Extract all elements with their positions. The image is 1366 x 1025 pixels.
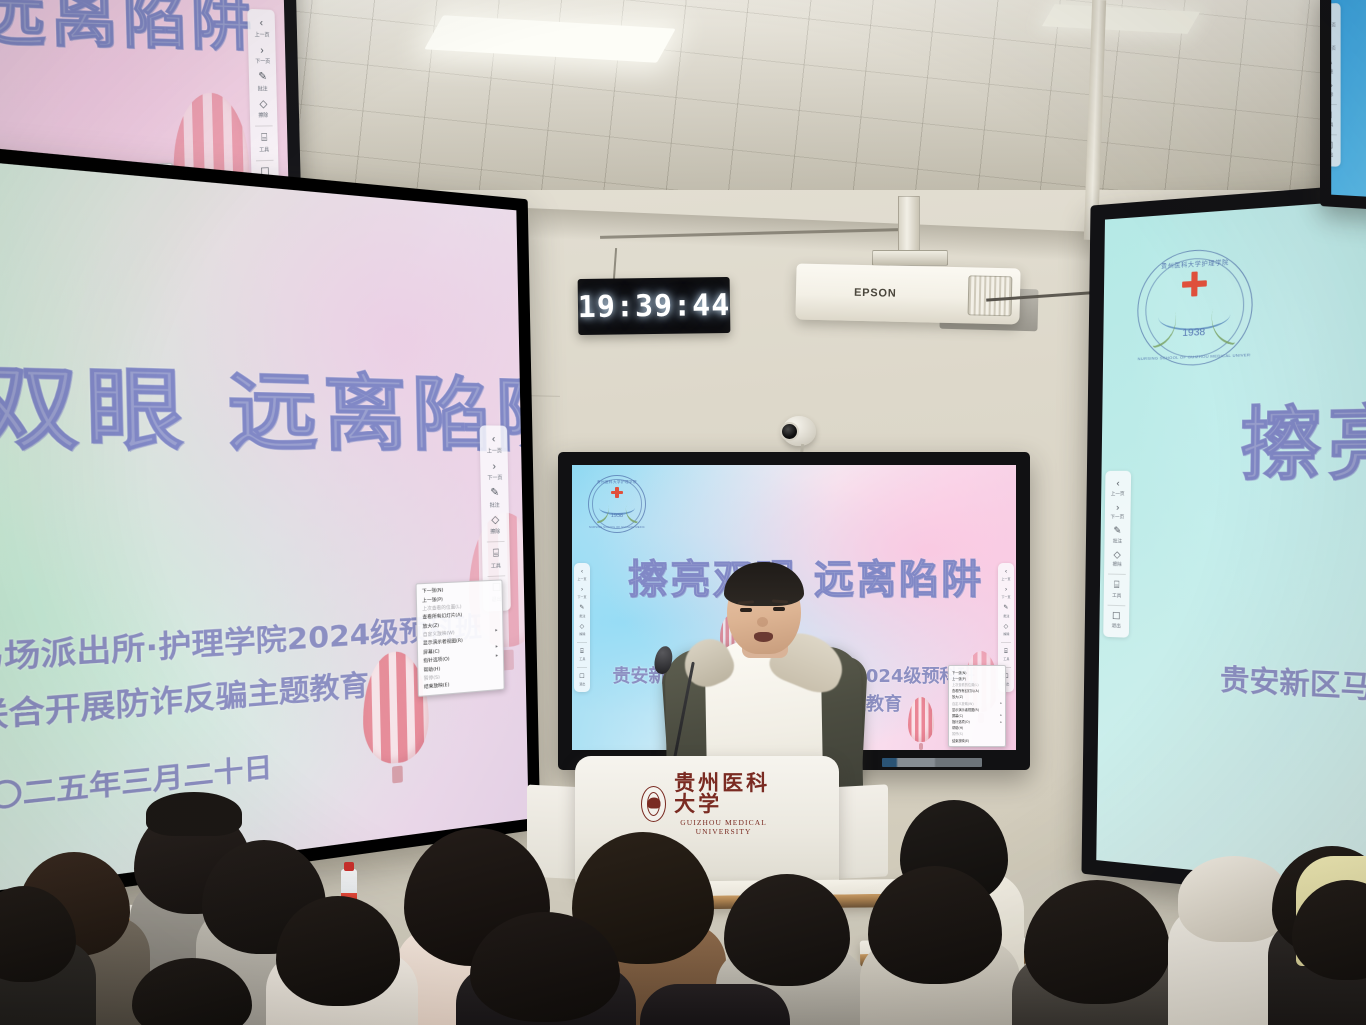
toolbar-button-退出[interactable]: ☐退出 — [1103, 608, 1129, 633]
toolbar-button-label: 退出 — [579, 681, 585, 686]
chevron-right-icon: ▸ — [1000, 701, 1002, 705]
toolbar-button-label: 下一页 — [255, 57, 270, 66]
toolbar-button-label: 擦除 — [490, 526, 500, 534]
eraser-icon: ◇ — [491, 514, 499, 525]
context-menu-item-label: 放大(Z) — [423, 622, 440, 629]
toolbar-button-批注[interactable]: ✎批注 — [481, 484, 509, 511]
toolbar-button-label: 擦除 — [1112, 561, 1121, 568]
exit-screen-icon: ☐ — [579, 674, 585, 680]
context-menu-item-label: 下一张(N) — [422, 587, 444, 594]
toolbar-button-label: 工具 — [1112, 592, 1121, 599]
logo-arc-top-text: 贵州医科大学护理学院 — [589, 480, 645, 485]
toolbar-button-label: 上一页 — [486, 446, 501, 454]
toolbar-button-label: 下一页 — [487, 473, 502, 481]
chevron-right-icon: ▸ — [1000, 720, 1002, 724]
audience-hair-bun — [146, 792, 242, 836]
toolbar-divider — [1331, 104, 1337, 105]
toolbar-button-批注[interactable]: ✎批注 — [1331, 55, 1340, 79]
toolbar-button-上一页[interactable]: ‹上一页 — [1105, 476, 1131, 500]
ppt-presentation-toolbar[interactable]: ‹上一页›下一页✎批注◇擦除⌸工具☐退出 — [574, 563, 590, 692]
toolbar-divider — [1331, 134, 1337, 135]
toolbar-button-擦除[interactable]: ◇擦除 — [1104, 547, 1130, 571]
toolbar-button-下一页[interactable]: ›下一页 — [1105, 500, 1131, 524]
nursing-school-logo: 贵州医科大学护理学院 1938 NURSING SCHOOL OF GUIZHO… — [588, 475, 646, 533]
toolbox-icon: ⌸ — [580, 649, 584, 655]
toolbar-button-label: 上一页 — [577, 576, 586, 581]
context-menu-item-label: 屏幕(C) — [423, 648, 440, 655]
logo-arc-bottom-text: NURSING SCHOOL OF GUIZHOU MEDICAL UNIVER… — [1138, 352, 1251, 361]
logo-founding-year: 1938 — [589, 513, 645, 519]
toolbar-button-label: 工具 — [491, 560, 501, 569]
toolbar-button-label: 批注 — [579, 613, 585, 618]
toolbar-button-label: 下一页 — [1331, 45, 1335, 52]
speaker-eye — [740, 608, 752, 612]
pen-icon: ✎ — [579, 605, 584, 611]
context-menu-item-label: 结束放映(E) — [424, 682, 450, 690]
far-right-display[interactable]: ‹上一页›下一页✎批注◇擦除⌸工具☐退出 — [1320, 0, 1366, 219]
context-menu-item-label: 暂停(S) — [952, 731, 963, 736]
toolbar-button-工具[interactable]: ⌸工具 — [574, 646, 590, 664]
toolbar-button-工具[interactable]: ⌸工具 — [998, 646, 1014, 664]
toolbox-icon: ⌸ — [1331, 111, 1332, 120]
speaker-nose — [757, 617, 768, 627]
toolbar-button-label: 批注 — [1003, 613, 1009, 618]
eraser-icon: ◇ — [580, 624, 585, 630]
chevron-right-icon: › — [492, 461, 496, 472]
toolbar-divider — [1108, 604, 1125, 606]
right-display-panel: 贵州医科大学护理学院 1938 NURSING SCHOOL OF GUIZHO… — [1096, 198, 1366, 889]
toolbar-button-批注[interactable]: ✎批注 — [1104, 523, 1130, 547]
toolbar-button-label: 上一页 — [1331, 22, 1335, 29]
context-menu-item-label: 上一张(P) — [422, 596, 443, 603]
toolbar-button-工具[interactable]: ⌸工具 — [1331, 108, 1340, 131]
toolbar-button-label: 退出 — [1112, 622, 1121, 629]
security-camera-lens-icon — [780, 422, 799, 441]
chevron-left-icon: ‹ — [1116, 479, 1119, 489]
podium-university-name-en: GUIZHOU MEDICAL UNIVERSITY — [674, 818, 773, 836]
context-menu-item-label: 暂停(S) — [424, 674, 440, 682]
toolbar-button-下一页[interactable]: ›下一页 — [574, 584, 590, 602]
toolbar-button-工具[interactable]: ⌸工具 — [250, 129, 278, 157]
toolbar-button-label: 工具 — [259, 145, 269, 153]
chevron-right-icon: ▸ — [496, 645, 498, 650]
ppt-context-menu[interactable]: 下一张(N)上一张(P)上次查看的位置(L)查看所有幻灯片(A)放大(Z)自定义… — [948, 665, 1006, 747]
toolbar-button-擦除[interactable]: ◇擦除 — [574, 621, 590, 639]
context-menu-item-label: 帮助(H) — [424, 666, 441, 674]
toolbar-button-批注[interactable]: ✎批注 — [998, 602, 1014, 620]
context-menu-item-label: 上一张(P) — [952, 676, 966, 681]
ppt-presentation-toolbar[interactable]: ‹上一页›下一页✎批注◇擦除⌸工具☐退出 — [1103, 471, 1131, 638]
logo-arc-bottom-text: NURSING SCHOOL OF GUIZHOU MEDICAL UNIVER… — [589, 526, 645, 529]
red-cross-icon — [611, 491, 622, 494]
toolbar-button-上一页[interactable]: ‹上一页 — [998, 566, 1014, 584]
toolbar-button-下一页[interactable]: ›下一页 — [1331, 31, 1340, 55]
toolbar-button-擦除[interactable]: ◇擦除 — [249, 95, 277, 122]
toolbar-divider — [1001, 642, 1012, 643]
toolbox-icon: ⌸ — [261, 133, 267, 144]
context-menu-item-label: 指针选项(O) — [952, 719, 970, 724]
toolbar-button-批注[interactable]: ✎批注 — [249, 68, 277, 95]
left-projection-screen[interactable]: 擦亮双眼 远离陷阱 贵安新区马场派出所·护理学院2024级预科班 联合开展防诈反… — [0, 132, 540, 926]
toolbar-button-label: 工具 — [579, 656, 585, 661]
toolbar-button-工具[interactable]: ⌸工具 — [1104, 577, 1130, 601]
toolbar-button-label: 擦除 — [579, 631, 585, 636]
toolbar-button-退出[interactable]: ☐退出 — [1331, 138, 1340, 162]
podium-branding: 贵州医科大学 GUIZHOU MEDICAL UNIVERSITY — [641, 772, 773, 836]
speaker-eye — [773, 607, 785, 611]
pen-icon: ✎ — [1113, 526, 1121, 536]
toolbar-button-label: 擦除 — [1331, 91, 1333, 97]
toolbar-button-擦除[interactable]: ◇擦除 — [998, 621, 1014, 639]
context-menu-item-label: 结束放映(E) — [952, 738, 969, 743]
toolbar-button-label: 退出 — [1331, 152, 1333, 159]
context-menu-item[interactable]: 结束放映(E) — [949, 737, 1005, 743]
chevron-right-icon: ▸ — [1000, 713, 1002, 717]
toolbar-button-上一页[interactable]: ‹上一页 — [247, 14, 275, 42]
chevron-right-icon: › — [1116, 503, 1119, 513]
exit-screen-icon: ☐ — [1331, 141, 1333, 150]
toolbar-button-下一页[interactable]: ›下一页 — [248, 41, 276, 69]
speaker-mouth — [754, 632, 773, 642]
context-menu-item-label: 帮助(H) — [952, 725, 963, 730]
toolbar-button-label: 批注 — [490, 499, 500, 507]
toolbox-icon: ⌸ — [1114, 581, 1120, 591]
toolbar-button-label: 下一页 — [577, 595, 586, 600]
toolbar-divider — [577, 667, 588, 668]
toolbar-divider — [487, 541, 505, 543]
toolbar-divider — [256, 159, 274, 161]
context-menu-item-label: 查看所有幻灯片(A) — [952, 688, 979, 693]
toolbar-button-上一页[interactable]: ‹上一页 — [480, 430, 508, 457]
slide-canvas: 贵州医科大学护理学院 1938 NURSING SCHOOL OF GUIZHO… — [1096, 198, 1366, 889]
clock-time-readout: 19:39:44 — [578, 287, 731, 324]
chevron-left-icon: ‹ — [1005, 569, 1007, 575]
toolbar-divider — [487, 575, 505, 577]
pen-icon: ✎ — [1331, 58, 1333, 67]
projector-mount-bracket — [872, 250, 948, 266]
projector: EPSON — [795, 263, 1020, 324]
toolbar-button-label: 上一页 — [1001, 576, 1010, 581]
context-menu-item-label: 显示演示者视图(R) — [952, 707, 979, 712]
projector-mount-pole — [898, 196, 920, 258]
toolbar-button-退出[interactable]: ☐退出 — [574, 671, 590, 689]
toolbar-button-label: 上一页 — [254, 29, 269, 38]
toolbar-button-上一页[interactable]: ‹上一页 — [574, 566, 590, 584]
podium-university-name-cn: 贵州医科大学 — [674, 772, 773, 814]
context-menu-item-label: 屏幕(C) — [952, 713, 963, 718]
display-brand-mark — [882, 758, 982, 767]
toolbar-button-label: 批注 — [1331, 68, 1333, 74]
slide-title-line: 擦亮双眼 远离陷阱 — [628, 547, 984, 605]
pen-icon: ✎ — [490, 487, 499, 498]
chevron-right-icon: › — [1005, 587, 1007, 593]
university-seal-icon — [641, 786, 666, 822]
slide-title-line: 擦亮双眼 远离陷阱 — [0, 0, 256, 63]
toolbar-button-擦除[interactable]: ◇擦除 — [481, 511, 509, 539]
toolbar-button-下一页[interactable]: ›下一页 — [998, 584, 1014, 602]
toolbox-icon: ⌸ — [1004, 649, 1008, 655]
slide-title-line: 擦亮双眼 远离陷阱 — [0, 323, 529, 469]
audience-head — [276, 896, 400, 1006]
balloon-decoration — [908, 697, 934, 750]
pen-icon: ✎ — [1003, 605, 1008, 611]
slide-subtitle-line1: 贵安新区马场派出所·护理学院2024级预科班 — [1220, 657, 1366, 745]
toolbar-button-label: 擦除 — [1003, 631, 1009, 636]
nursing-school-logo: 贵州医科大学护理学院 1938 NURSING SCHOOL OF GUIZHO… — [1137, 246, 1254, 367]
toolbar-divider — [577, 642, 588, 643]
toolbar-divider — [1108, 574, 1125, 575]
eraser-icon: ◇ — [259, 99, 267, 110]
ppt-presentation-toolbar[interactable]: ‹上一页›下一页✎批注◇擦除⌸工具☐退出 — [247, 9, 279, 196]
toolbar-button-label: 下一页 — [1001, 595, 1010, 600]
toolbar-button-批注[interactable]: ✎批注 — [574, 602, 590, 620]
chevron-right-icon: › — [581, 587, 583, 593]
chevron-left-icon: ‹ — [581, 569, 583, 575]
chevron-left-icon: ‹ — [492, 434, 496, 445]
ppt-presentation-toolbar[interactable]: ‹上一页›下一页✎批注◇擦除⌸工具☐退出 — [1331, 3, 1340, 167]
pen-icon: ✎ — [258, 71, 267, 82]
exit-screen-icon: ☐ — [1112, 611, 1121, 621]
audience-member — [640, 984, 790, 1025]
context-menu-item-label: 上次查看的位置(L) — [952, 682, 979, 687]
lecture-hall-photo: EPSON 19:39:44 擦亮双眼 远离陷阱 贵安新区马场派出所·护理学院2… — [0, 0, 1366, 1025]
projector-vent — [968, 275, 1013, 316]
eraser-icon: ◇ — [1113, 550, 1120, 560]
toolbar-button-工具[interactable]: ⌸工具 — [482, 545, 510, 573]
chevron-right-icon: ▸ — [496, 653, 498, 658]
toolbar-button-label: 批注 — [258, 84, 268, 92]
toolbar-button-label: 擦除 — [259, 111, 269, 119]
left-projection-screen-panel: 擦亮双眼 远离陷阱 贵安新区马场派出所·护理学院2024级预科班 联合开展防诈反… — [0, 149, 529, 909]
far-right-display-panel: ‹上一页›下一页✎批注◇擦除⌸工具☐退出 — [1331, 0, 1366, 205]
toolbar-button-label: 批注 — [1113, 537, 1122, 543]
toolbar-button-上一页[interactable]: ‹上一页 — [1331, 8, 1340, 32]
chevron-right-icon: › — [260, 44, 264, 55]
digital-wall-clock: 19:39:44 — [578, 277, 731, 335]
context-menu-item-label: 自定义放映(W) — [952, 701, 974, 706]
context-menu-item-label: 下一张(N) — [952, 670, 966, 675]
projector-brand-label: EPSON — [854, 287, 897, 300]
slide-canvas: 擦亮双眼 远离陷阱 贵安新区马场派出所·护理学院2024级预科班 联合开展防诈反… — [0, 149, 529, 909]
slide-title-line: 擦亮双眼 远离陷阱 — [1239, 355, 1366, 497]
toolbar-divider — [255, 125, 273, 126]
toolbar-button-label: 上一页 — [1111, 490, 1125, 496]
toolbar-button-擦除[interactable]: ◇擦除 — [1331, 78, 1340, 101]
eraser-icon: ◇ — [1331, 81, 1332, 90]
chevron-left-icon: ‹ — [259, 17, 263, 28]
context-menu-item-label: 放大(Z) — [952, 694, 963, 699]
toolbar-button-label: 工具 — [1331, 121, 1333, 127]
audience-head — [1024, 880, 1170, 1004]
toolbar-button-label: 工具 — [1003, 656, 1009, 661]
eraser-icon: ◇ — [1004, 624, 1009, 630]
ppt-context-menu[interactable]: 下一张(N)上一张(P)上次查看的位置(L)查看所有幻灯片(A)放大(Z)自定义… — [416, 579, 505, 696]
chevron-right-icon: ▸ — [495, 628, 497, 633]
toolbox-icon: ⌸ — [493, 548, 499, 559]
toolbar-button-下一页[interactable]: ›下一页 — [480, 457, 508, 484]
right-display[interactable]: 贵州医科大学护理学院 1938 NURSING SCHOOL OF GUIZHO… — [1081, 181, 1366, 908]
toolbar-button-label: 下一页 — [1111, 514, 1125, 520]
